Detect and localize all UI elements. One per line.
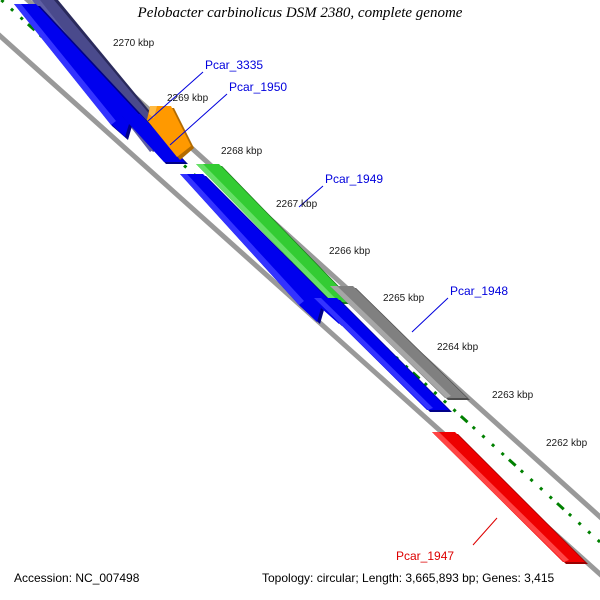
- gene-feature-blue-mid[interactable]: [180, 174, 342, 326]
- ruler-tick-label: 2266 kbp: [329, 246, 370, 257]
- ruler-tick-label: 2263 kbp: [492, 390, 533, 401]
- leader-line: [473, 518, 497, 545]
- gene-label-pcar-3335[interactable]: Pcar_3335: [205, 58, 263, 72]
- gene-feature-pcar-1947[interactable]: [432, 432, 588, 564]
- ruler-minor-tick: [492, 444, 494, 446]
- gene-label-pcar-1950[interactable]: Pcar_1950: [229, 80, 287, 94]
- ruler-major-tick: [461, 416, 468, 422]
- ruler-major-tick: [509, 460, 516, 466]
- ruler-minor-tick: [530, 479, 532, 481]
- ruler-tick-label: 2269 kbp: [167, 93, 208, 104]
- ruler-tick-label: 2267 kbp: [276, 199, 317, 210]
- ruler-minor-tick: [482, 436, 484, 438]
- page-title: Pelobacter carbinolicus DSM 2380, comple…: [0, 5, 600, 22]
- ruler-minor-tick: [1, 0, 3, 2]
- ruler-tick-label: 2262 kbp: [546, 438, 587, 449]
- ruler-minor-tick: [453, 409, 455, 411]
- gene-label-pcar-1949[interactable]: Pcar_1949: [325, 172, 383, 186]
- ruler-minor-tick: [579, 523, 581, 525]
- gene-label-pcar-1947[interactable]: Pcar_1947: [396, 549, 454, 563]
- accession-text: Accession: NC_007498: [14, 571, 139, 585]
- gene-label-pcar-1948[interactable]: Pcar_1948: [450, 284, 508, 298]
- genome-stats-text: Topology: circular; Length: 3,665,893 bp…: [262, 571, 554, 585]
- ruler-tick-label: 2268 kbp: [221, 146, 262, 157]
- ruler-tick-label: 2264 kbp: [437, 342, 478, 353]
- ruler-minor-tick: [444, 401, 446, 403]
- genome-map-viewer: Pelobacter carbinolicus DSM 2380, comple…: [0, 0, 600, 600]
- ruler-minor-tick: [550, 496, 552, 498]
- ruler-minor-tick: [521, 470, 523, 472]
- genome-map-canvas[interactable]: [0, 0, 600, 600]
- ruler-tick-label: 2265 kbp: [383, 293, 424, 304]
- ruler-minor-tick: [502, 453, 504, 455]
- ruler-tick-label: 2270 kbp: [113, 38, 154, 49]
- ruler-minor-tick: [540, 488, 542, 490]
- ruler-minor-tick: [184, 166, 186, 168]
- ruler-minor-tick: [434, 392, 436, 394]
- ruler-minor-tick: [569, 514, 571, 516]
- ruler-minor-tick: [588, 531, 590, 533]
- ruler-major-tick: [557, 503, 564, 509]
- ruler-minor-tick: [473, 427, 475, 429]
